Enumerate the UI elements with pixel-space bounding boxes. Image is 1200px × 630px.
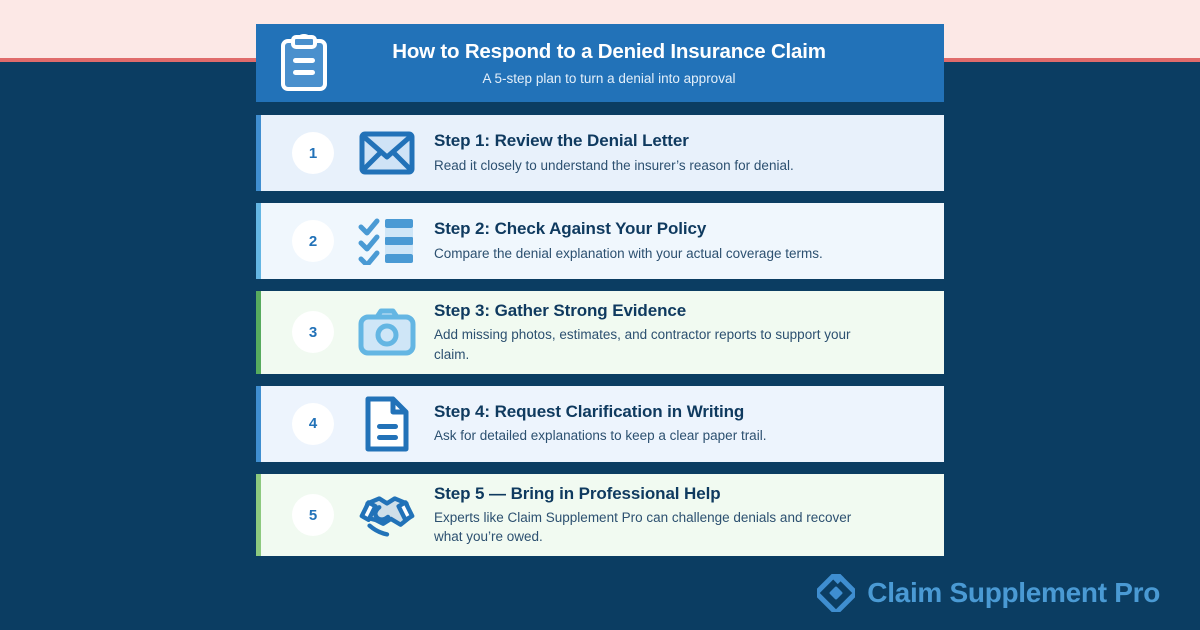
step-text-block: Step 3: Gather Strong Evidence Add missi… <box>434 301 924 364</box>
infographic-canvas: How to Respond to a Denied Insurance Cla… <box>0 0 1200 630</box>
step-text-block: Step 2: Check Against Your Policy Compar… <box>434 219 924 263</box>
step-accent-bar <box>256 115 261 191</box>
document-icon <box>356 396 418 452</box>
step-number-badge: 1 <box>292 132 334 174</box>
footer-brand: Claim Supplement Pro <box>0 574 1160 612</box>
step-accent-bar <box>256 291 261 374</box>
diamond-logo-icon <box>817 574 855 612</box>
step-title: Step 3: Gather Strong Evidence <box>434 301 914 321</box>
step-number-badge: 4 <box>292 403 334 445</box>
step-card-2: 2 Ste <box>256 203 944 279</box>
header-text-block: How to Respond to a Denied Insurance Cla… <box>340 40 926 86</box>
step-accent-bar <box>256 203 261 279</box>
step-title: Step 1: Review the Denial Letter <box>434 131 914 151</box>
step-accent-bar <box>256 474 261 557</box>
step-card-1: 1 Step 1: Review the Denial Letter Read … <box>256 115 944 191</box>
steps-list: 1 Step 1: Review the Denial Letter Read … <box>256 115 944 556</box>
step-title: Step 5 — Bring in Professional Help <box>434 484 914 504</box>
brand-name: Claim Supplement Pro <box>867 577 1160 609</box>
step-description: Experts like Claim Supplement Pro can ch… <box>434 508 864 546</box>
page-subtitle: A 5-step plan to turn a denial into appr… <box>340 71 878 87</box>
step-card-5: 5 Step 5 — Bring in Professional Help Ex… <box>256 474 944 557</box>
page-title: How to Respond to a Denied Insurance Cla… <box>340 40 878 64</box>
step-number-badge: 3 <box>292 311 334 353</box>
step-text-block: Step 4: Request Clarification in Writing… <box>434 402 924 446</box>
header-banner: How to Respond to a Denied Insurance Cla… <box>256 24 944 102</box>
step-title: Step 4: Request Clarification in Writing <box>434 402 914 422</box>
content-column: How to Respond to a Denied Insurance Cla… <box>256 24 944 568</box>
handshake-icon <box>356 487 418 543</box>
step-description: Read it closely to understand the insure… <box>434 156 864 175</box>
envelope-icon <box>356 125 418 181</box>
step-number-badge: 2 <box>292 220 334 262</box>
step-description: Compare the denial explanation with your… <box>434 244 864 263</box>
step-text-block: Step 1: Review the Denial Letter Read it… <box>434 131 924 175</box>
step-description: Add missing photos, estimates, and contr… <box>434 325 864 363</box>
step-description: Ask for detailed explanations to keep a … <box>434 426 864 445</box>
clipboard-icon <box>278 33 330 93</box>
step-card-3: 3 Step 3: Gather Strong Evidence Add mis… <box>256 291 944 374</box>
step-card-4: 4 Step 4: Request Clarification in Writi… <box>256 386 944 462</box>
step-accent-bar <box>256 386 261 462</box>
step-text-block: Step 5 — Bring in Professional Help Expe… <box>434 484 924 547</box>
step-title: Step 2: Check Against Your Policy <box>434 219 914 239</box>
step-number-badge: 5 <box>292 494 334 536</box>
checklist-icon <box>356 213 418 269</box>
camera-icon <box>356 304 418 360</box>
